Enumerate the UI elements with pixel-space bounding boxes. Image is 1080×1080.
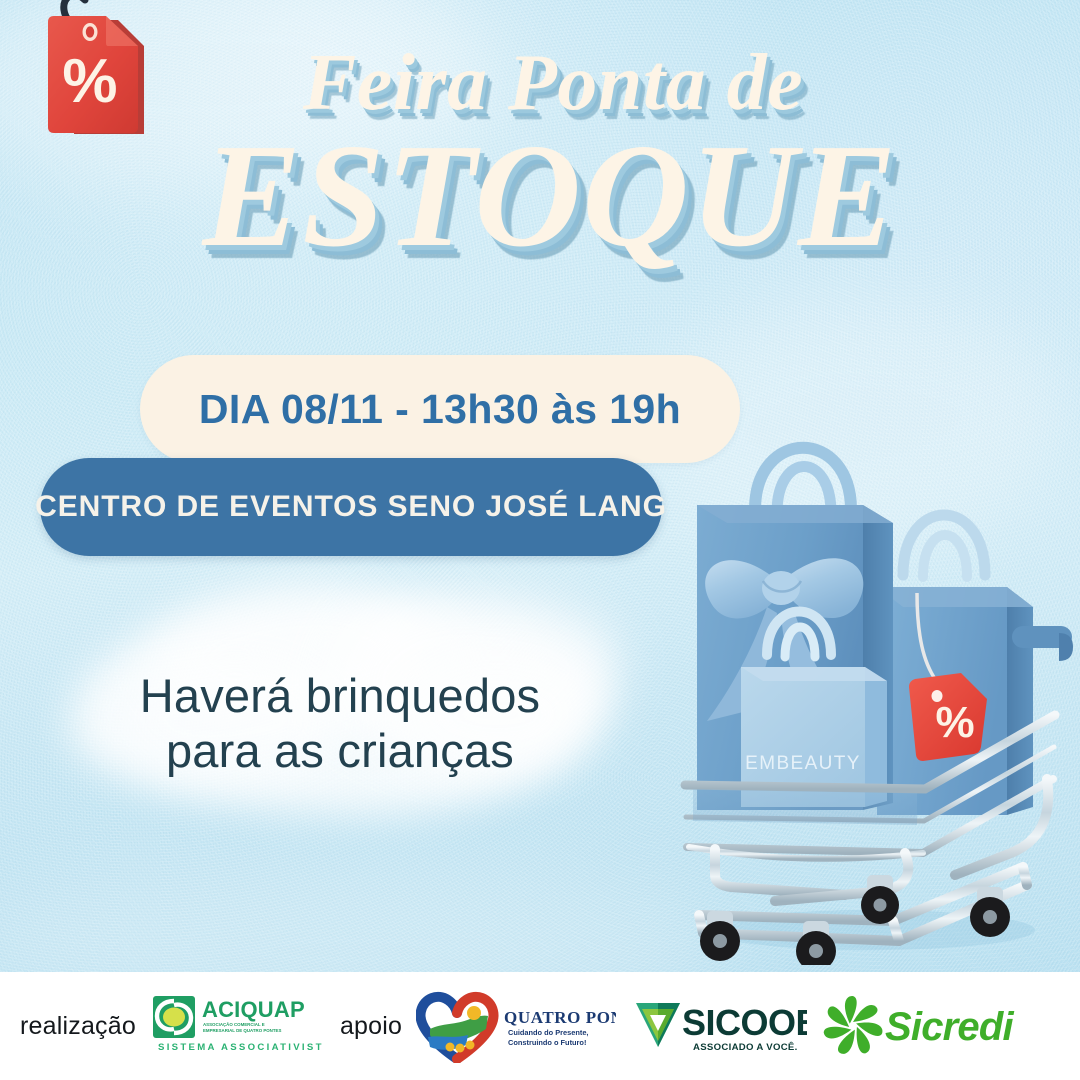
poster-canvas: % Feira Ponta de ESTOQUE DIA 08/11 - 13h… xyxy=(0,0,1080,1080)
realizacao-label: realização xyxy=(20,1012,136,1041)
sponsor-footer: realização ACIQUAP ASSOCIAÇÃO COMERCIAL … xyxy=(0,972,1080,1080)
event-date-bar: DIA 08/11 - 13h30 às 19h xyxy=(140,355,740,463)
event-venue-bar: CENTRO DE EVENTOS SENO JOSÉ LANG xyxy=(40,458,662,556)
spiral-square-icon xyxy=(153,996,195,1038)
logo-sicoob: SICOOB ASSOCIADO A VOCÊ. xyxy=(632,995,807,1057)
cart-tag-percent-symbol: % xyxy=(935,698,974,747)
sicredi-wordmark: Sicredi xyxy=(885,1005,1014,1049)
event-date-text: DIA 08/11 - 13h30 às 19h xyxy=(199,386,681,433)
aciquap-tagline: SISTEMA ASSOCIATIVISTA xyxy=(158,1042,322,1053)
shopping-cart-with-gift-bags-icon: EMBEAUTY % xyxy=(655,355,1080,965)
headline-line-1: Feira Ponta de xyxy=(0,44,1080,122)
apoio-label: apoio xyxy=(340,1012,402,1041)
logo-aciquap: ACIQUAP ASSOCIAÇÃO COMERCIAL E EMPRESARI… xyxy=(152,994,322,1058)
pinwheel-petals-icon xyxy=(823,996,885,1056)
logo-sicredi: Sicredi xyxy=(823,996,1023,1056)
kids-note-line-2: para as crianças xyxy=(105,723,575,778)
logo-quatro-pontes: QUATRO PONTES Cuidando do Presente, Cons… xyxy=(416,989,616,1063)
sicoob-wordmark: SICOOB xyxy=(682,1002,807,1043)
aciquap-subtitle-1: ASSOCIAÇÃO COMERCIAL E xyxy=(203,1022,265,1027)
quatro-pontes-tagline-1: Cuidando do Presente, xyxy=(508,1028,589,1037)
heart-landscape-icon xyxy=(421,997,494,1059)
quatro-pontes-wordmark: QUATRO PONTES xyxy=(504,1008,616,1027)
aciquap-subtitle-2: EMPRESARIAL DE QUATRO PONTES xyxy=(203,1028,281,1033)
aciquap-wordmark: ACIQUAP xyxy=(202,997,305,1022)
headline-line-2: ESTOQUE xyxy=(0,128,1080,264)
poster-headline: Feira Ponta de ESTOQUE xyxy=(0,44,1080,265)
quatro-pontes-tagline-2: Construindo o Futuro! xyxy=(508,1038,586,1047)
triangle-leaf-icon xyxy=(636,1003,680,1047)
event-venue-text: CENTRO DE EVENTOS SENO JOSÉ LANG xyxy=(35,490,667,524)
kids-activity-note: Haverá brinquedos para as crianças xyxy=(105,668,575,779)
small-bag-brand-label: EMBEAUTY xyxy=(745,753,861,774)
kids-note-line-1: Haverá brinquedos xyxy=(105,668,575,723)
sicoob-tagline: ASSOCIADO A VOCÊ. xyxy=(693,1041,798,1053)
